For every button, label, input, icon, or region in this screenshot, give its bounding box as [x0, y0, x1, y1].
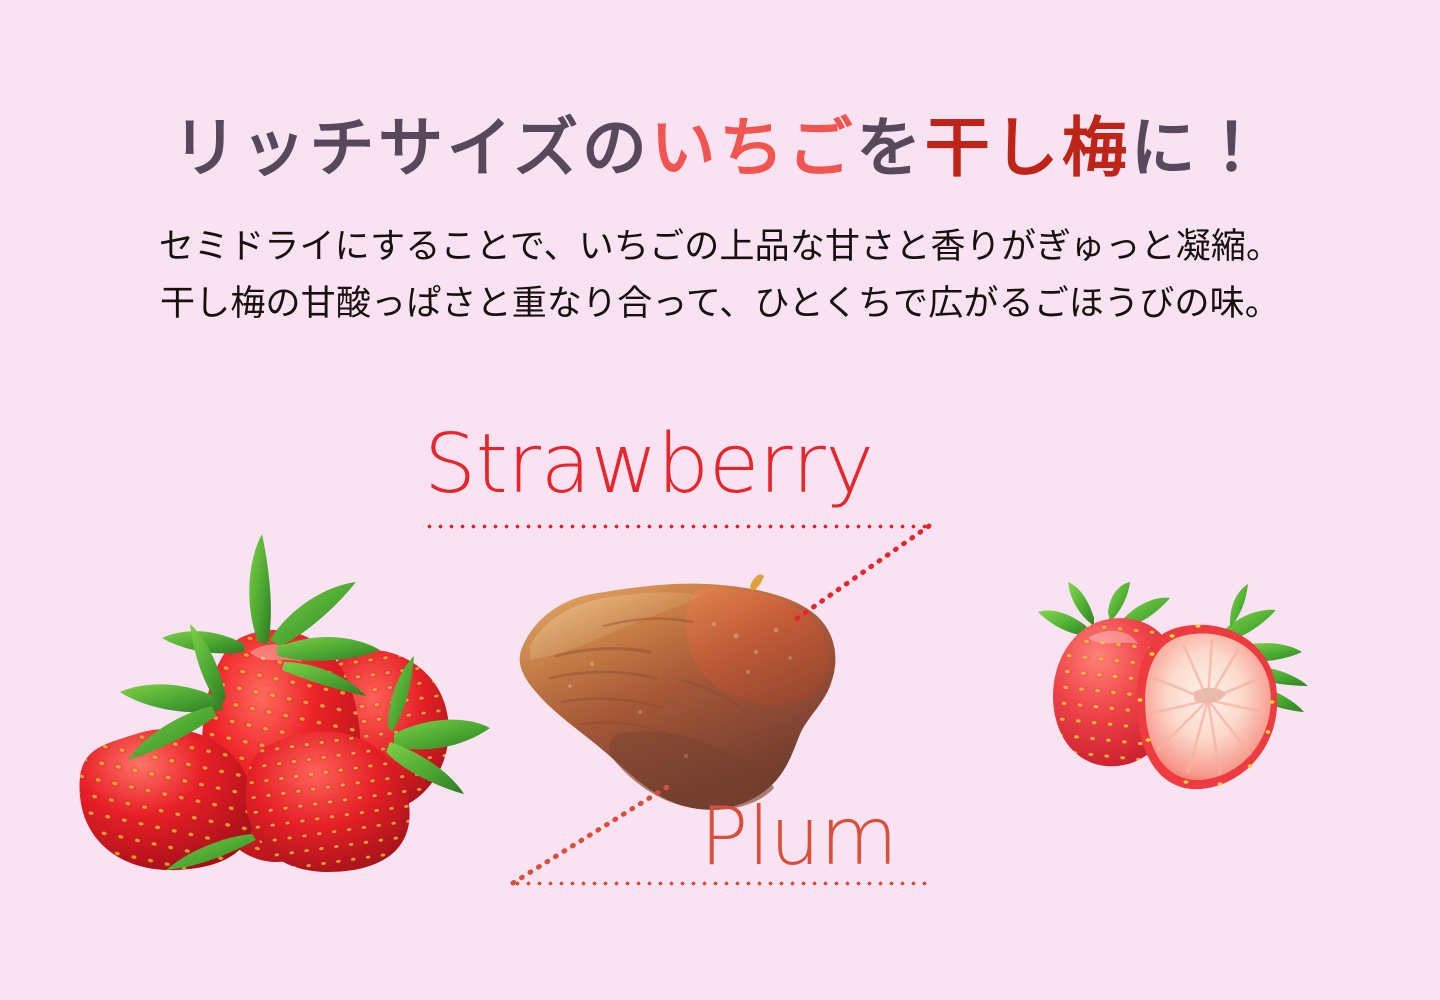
headline-segment-1: リッチサイズの	[172, 111, 650, 186]
callout-label-strawberry: Strawberry	[424, 424, 874, 506]
subtitle-line-1: セミドライにすることで、いちごの上品な甘さと香りがぎゅっと凝縮。	[0, 219, 1440, 276]
photo-strawberry-pair	[1024, 582, 1352, 798]
photo-strawberry-cluster	[44, 520, 492, 880]
headline-segment-3: を	[856, 111, 925, 186]
headline-segment-strawberry: いちご	[650, 111, 856, 186]
callout-underline-strawberry	[424, 524, 930, 529]
promo-banner: リッチサイズのいちごを干し梅に！ セミドライにすることで、いちごの上品な甘さと香…	[0, 0, 1440, 1000]
page-title: リッチサイズのいちごを干し梅に！	[0, 116, 1440, 181]
berry-half	[1137, 624, 1277, 789]
callout-underline-plum	[512, 881, 932, 886]
headline-segment-plum: 干し梅	[925, 111, 1131, 186]
subtitle-text: セミドライにすることで、いちごの上品な甘さと香りがぎゅっと凝縮。 干し梅の甘酸っ…	[0, 219, 1440, 334]
headline-segment-5: に！	[1130, 111, 1267, 186]
subtitle-line-2: 干し梅の甘酸っぱさと重なり合って、ひとくちで広がるごほうびの味。	[0, 276, 1440, 333]
callout-label-plum: Plum	[700, 797, 898, 877]
